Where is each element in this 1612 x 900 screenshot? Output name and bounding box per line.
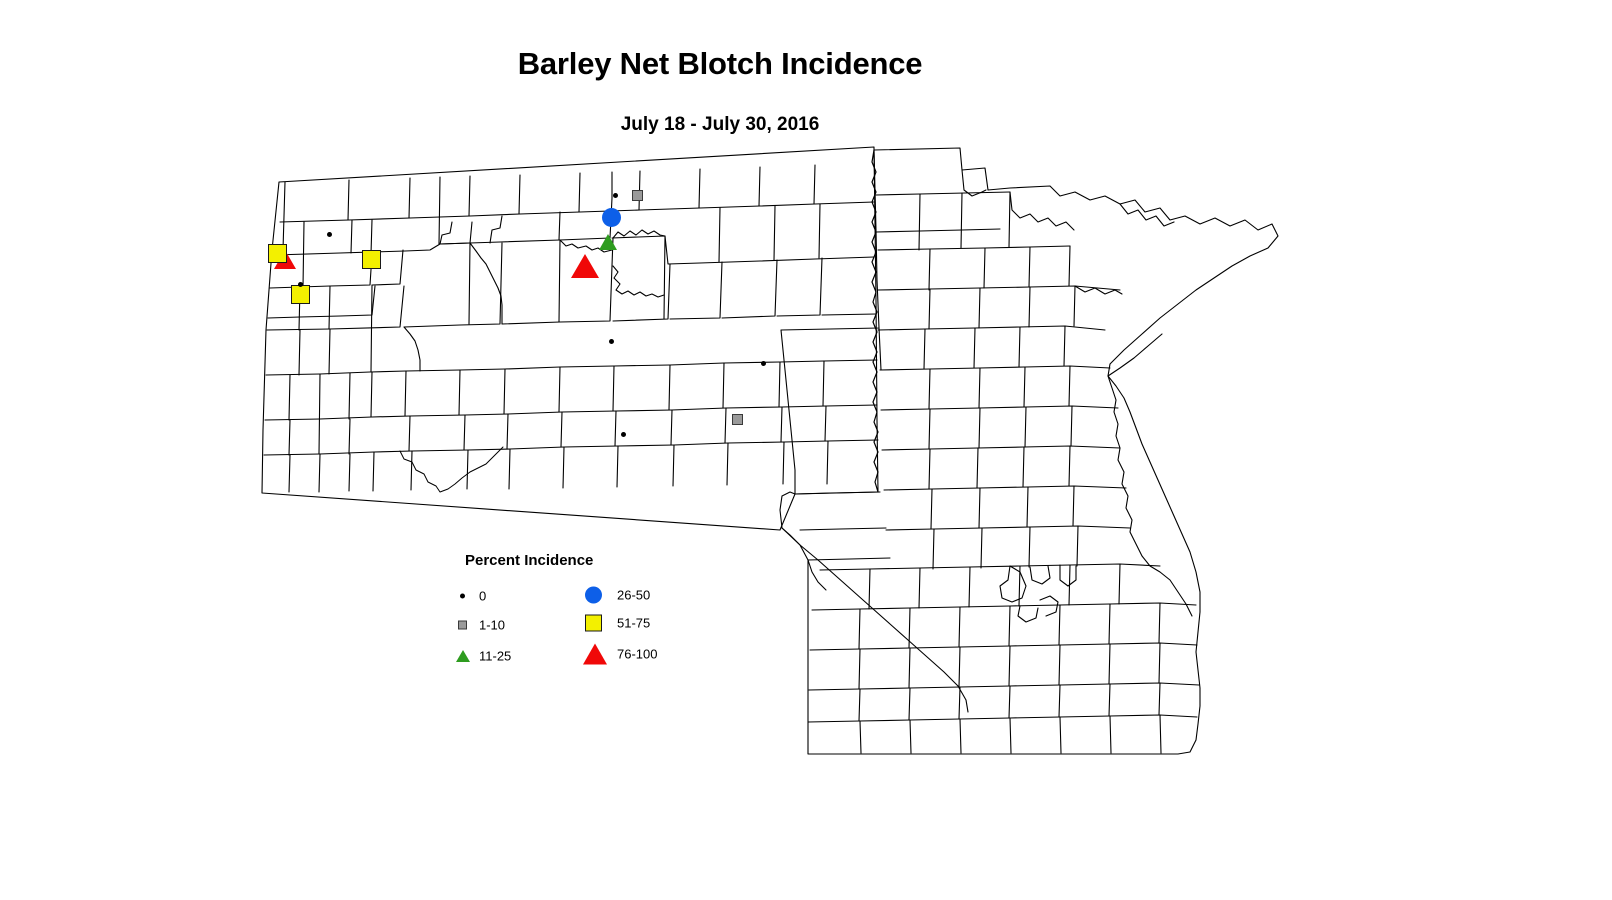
square-icon: [585, 615, 602, 632]
legend-label: 0: [479, 589, 486, 604]
map-figure: Barley Net Blotch Incidence July 18 - Ju…: [0, 0, 1612, 900]
square-icon: [458, 621, 467, 630]
legend-title: Percent Incidence: [465, 552, 593, 569]
map-marker-51-75: [291, 285, 310, 304]
map-marker-51-75: [362, 250, 381, 269]
map-marker-1-10: [632, 190, 643, 201]
county-outline-map: [0, 0, 1612, 900]
dot-icon: [460, 594, 465, 599]
legend-label: 11-25: [479, 649, 511, 664]
legend-label: 51-75: [617, 616, 650, 631]
map-marker-0: [298, 282, 303, 287]
map-marker-0: [621, 432, 626, 437]
map-marker-26-50: [602, 208, 621, 227]
map-marker-51-75: [268, 244, 287, 263]
map-marker-0: [613, 193, 618, 198]
map-marker-1-10: [732, 414, 743, 425]
map-legend: Percent Incidence 0 1-10 11-25 26-50 51-…: [455, 552, 715, 687]
legend-item-51-75: 51-75: [585, 609, 715, 637]
legend-item-0: 0: [455, 582, 585, 610]
legend-item-1-10: 1-10: [455, 611, 585, 639]
legend-item-26-50: 26-50: [585, 581, 715, 609]
legend-item-11-25: 11-25: [455, 642, 585, 670]
map-marker-0: [761, 361, 766, 366]
triangle-icon: [583, 644, 607, 665]
north-dakota-outline: [262, 147, 878, 530]
triangle-icon: [456, 650, 470, 662]
circle-icon: [585, 587, 602, 604]
map-marker-76-100: [571, 254, 599, 278]
legend-label: 1-10: [479, 618, 505, 633]
map-canvas: [0, 0, 1612, 900]
map-marker-0: [327, 232, 332, 237]
map-marker-11-25: [599, 234, 617, 250]
legend-label: 26-50: [617, 588, 650, 603]
minnesota-outline: [780, 148, 1278, 754]
map-marker-0: [609, 339, 614, 344]
legend-label: 76-100: [617, 647, 657, 662]
legend-item-76-100: 76-100: [585, 640, 715, 668]
